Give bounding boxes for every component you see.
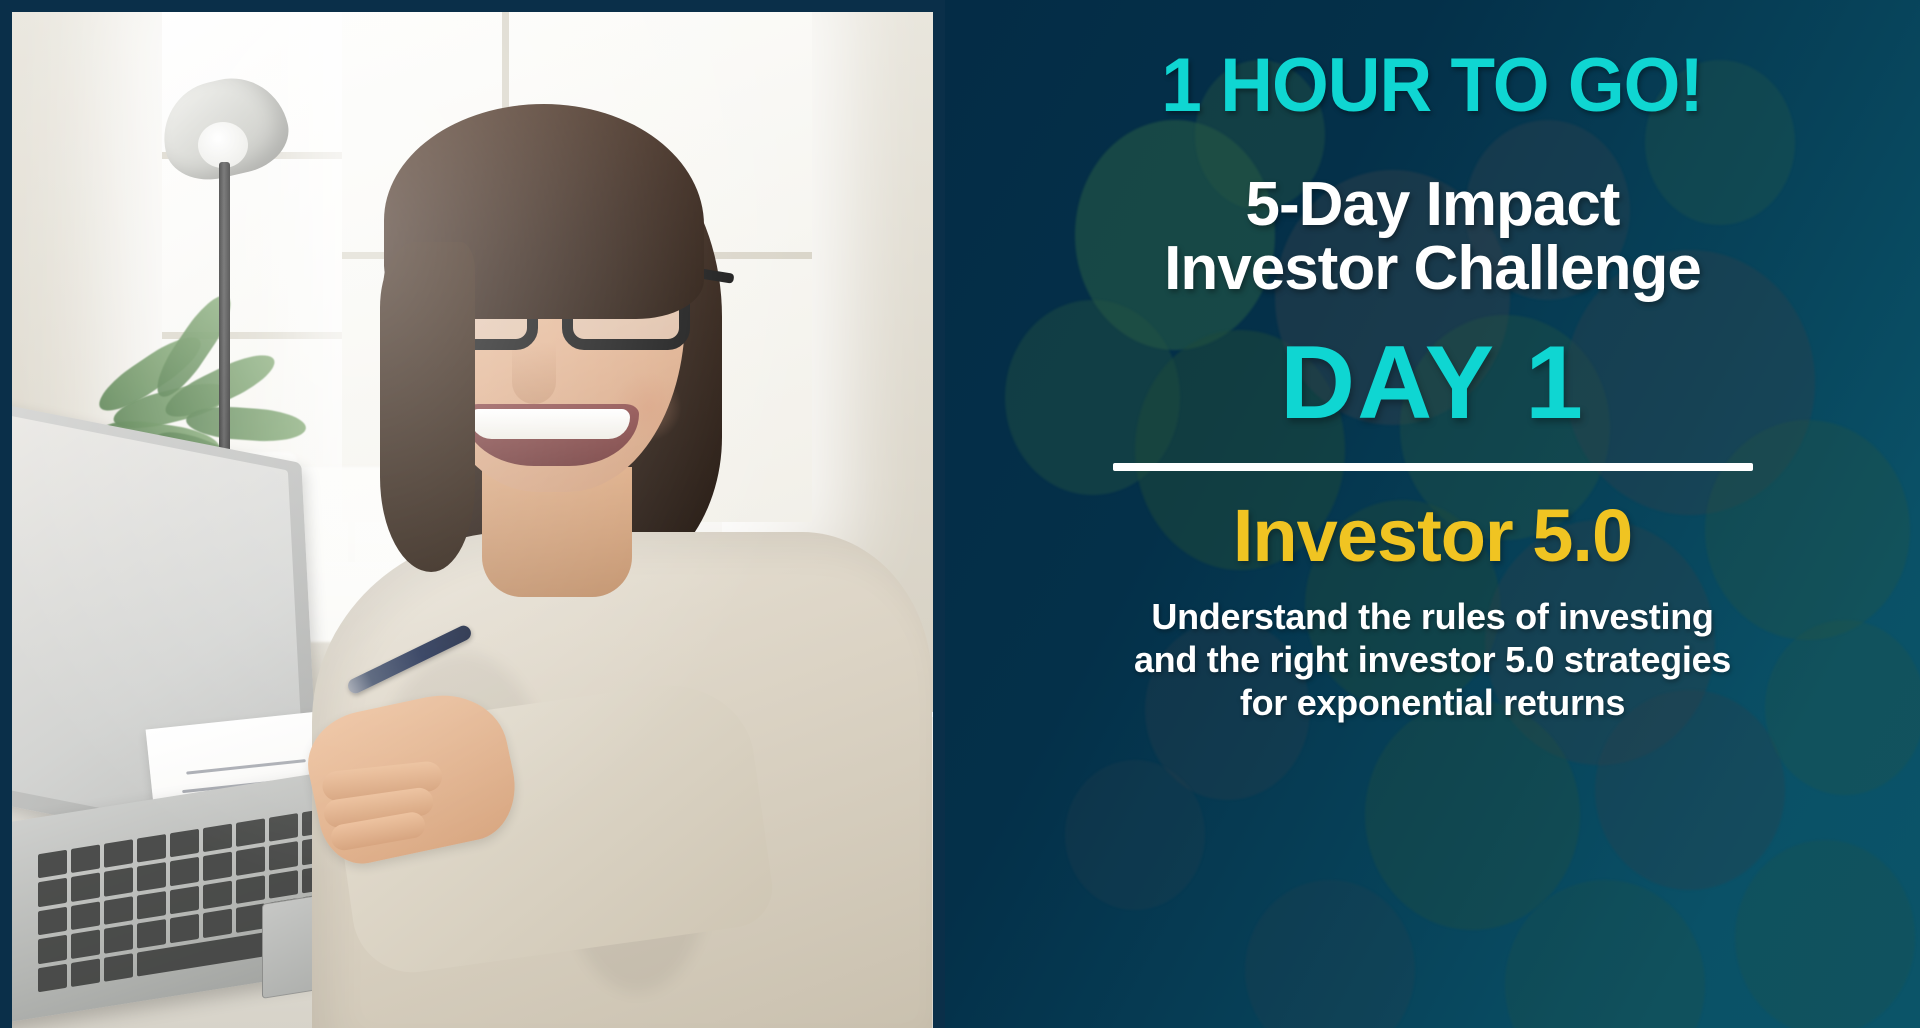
day-badge: DAY 1 xyxy=(1280,331,1585,435)
info-pane: 1 HOUR TO GO! 5-Day Impact Investor Chal… xyxy=(945,0,1920,1028)
description-line-1: Understand the rules of investing xyxy=(1134,595,1731,638)
description-line-2: and the right investor 5.0 strategies xyxy=(1134,638,1731,681)
promo-banner: 1 HOUR TO GO! 5-Day Impact Investor Chal… xyxy=(0,0,1920,1028)
countdown-headline: 1 HOUR TO GO! xyxy=(1162,42,1704,129)
page-title: 5-Day Impact Investor Challenge xyxy=(1164,173,1701,301)
brand-name: Investor 5.0 xyxy=(1233,499,1632,573)
info-content: 1 HOUR TO GO! 5-Day Impact Investor Chal… xyxy=(945,0,1920,1028)
divider xyxy=(1113,463,1753,471)
hero-photo xyxy=(12,12,933,1028)
hair-side xyxy=(380,242,475,572)
title-line-2: Investor Challenge xyxy=(1164,237,1701,301)
title-line-1: 5-Day Impact xyxy=(1164,173,1701,237)
description-line-3: for exponential returns xyxy=(1134,681,1731,724)
description: Understand the rules of investing and th… xyxy=(1134,595,1731,725)
photo-pane xyxy=(0,0,945,1028)
